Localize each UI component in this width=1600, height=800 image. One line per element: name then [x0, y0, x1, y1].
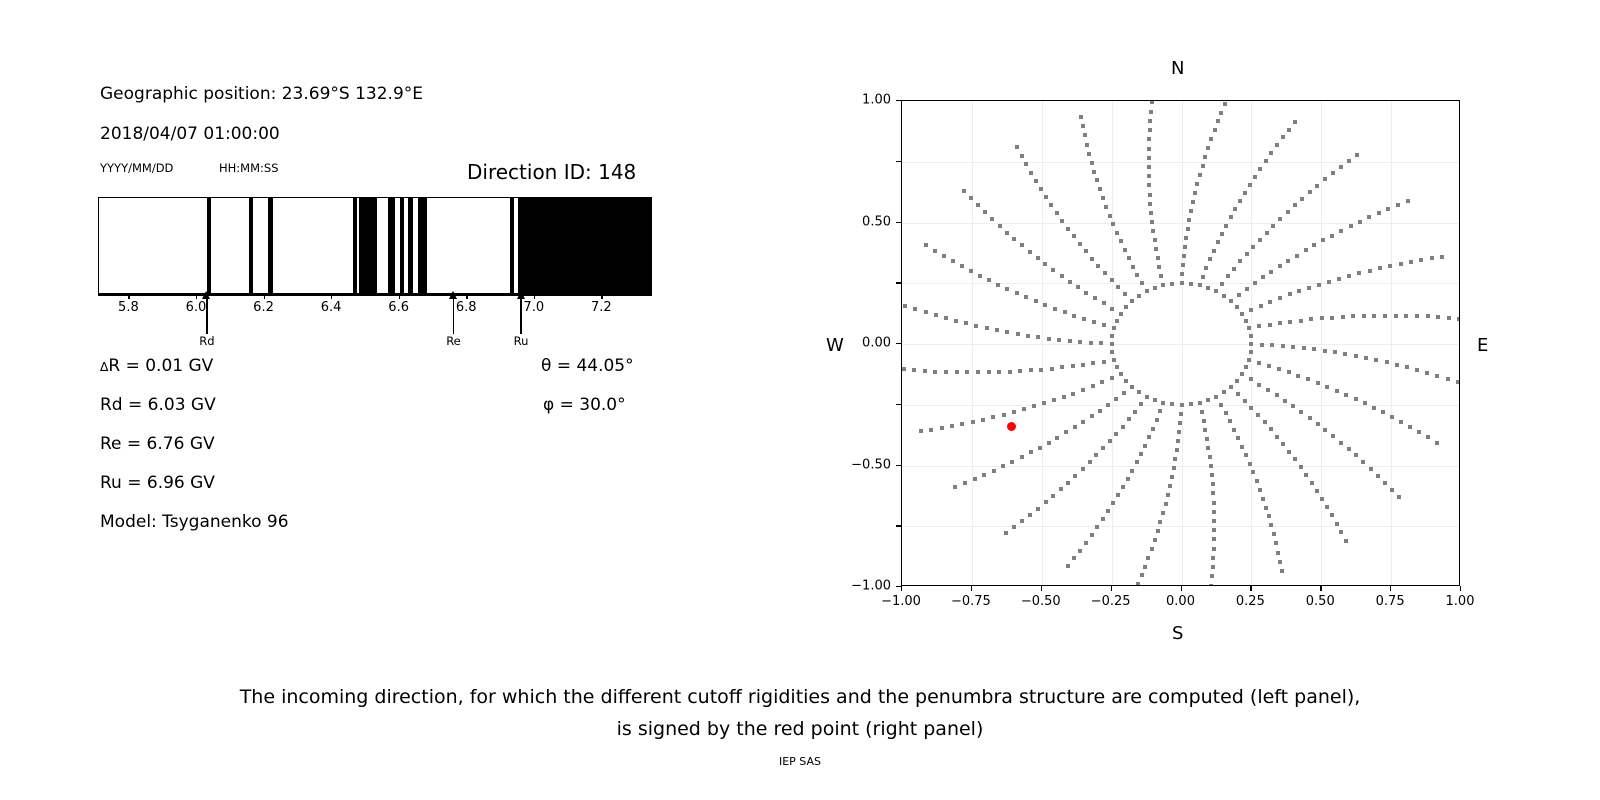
y-axis-tick-label: 0.50	[827, 214, 891, 229]
x-axis-tick-label: 1.00	[1446, 594, 1475, 609]
x-axis-tick-label: −0.25	[1091, 594, 1131, 609]
param-model: Model: Tsyganenko 96	[100, 512, 289, 532]
caption-line-1: The incoming direction, for which the di…	[0, 686, 1600, 708]
x-axis-tick	[901, 586, 902, 591]
y-axis-tick-label: 1.00	[827, 93, 891, 108]
x-axis-tick	[1250, 586, 1251, 591]
param-rd: Rd = 6.03 GV	[100, 395, 216, 415]
compass-label-south: S	[1172, 623, 1183, 644]
y-axis-tick	[896, 465, 901, 466]
param-delta-R: ∆R = 0.01 GV	[100, 356, 213, 376]
param-re: Re = 6.76 GV	[100, 434, 215, 454]
y-axis-tick	[896, 343, 901, 344]
y-axis-tick	[896, 222, 901, 223]
x-axis-tick-label: −1.00	[881, 594, 921, 609]
y-axis-tick	[896, 100, 901, 101]
param-phi: φ = 30.0°	[543, 395, 626, 415]
param-ru: Ru = 6.96 GV	[100, 473, 215, 493]
x-axis-tick-label: −0.50	[1021, 594, 1061, 609]
x-axis-tick-label: 0.25	[1236, 594, 1265, 609]
x-axis-tick-label: 0.75	[1376, 594, 1405, 609]
x-axis-tick	[1390, 586, 1391, 591]
y-axis-tick	[896, 404, 901, 405]
y-axis-tick	[896, 525, 901, 526]
compass-label-east: E	[1477, 335, 1488, 356]
y-axis-tick-label: −0.50	[827, 457, 891, 472]
x-axis-tick	[1320, 586, 1321, 591]
x-axis-tick	[1181, 586, 1182, 591]
x-axis-tick	[971, 586, 972, 591]
direction-map-axes: −1.00−0.500.000.501.00−1.00−0.75−0.50−0.…	[901, 100, 1460, 586]
x-axis-tick-label: 0.00	[1166, 594, 1195, 609]
y-axis-tick	[896, 161, 901, 162]
compass-label-west: W	[826, 335, 844, 356]
y-axis-tick	[896, 282, 901, 283]
y-axis-tick-label: −1.00	[827, 579, 891, 594]
x-axis-tick-label: −0.75	[951, 594, 991, 609]
caption-line-2: is signed by the red point (right panel)	[0, 718, 1600, 740]
x-axis-tick	[1460, 586, 1461, 591]
x-axis-tick	[1041, 586, 1042, 591]
compass-label-north: N	[1171, 58, 1184, 79]
parameter-list: ∆R = 0.01 GVRd = 6.03 GVRe = 6.76 GVRu =…	[0, 0, 700, 560]
footer-credit: IEP SAS	[0, 755, 1600, 768]
x-axis-tick-label: 0.50	[1306, 594, 1335, 609]
x-axis-tick	[1111, 586, 1112, 591]
param-theta: θ = 44.05°	[541, 356, 634, 376]
